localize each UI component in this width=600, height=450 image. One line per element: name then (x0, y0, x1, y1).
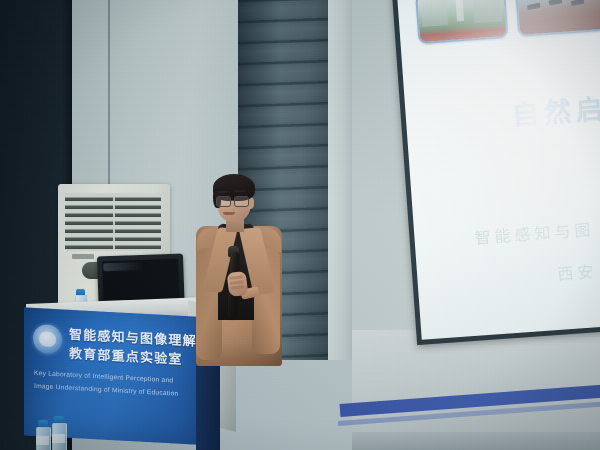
campus-building-right (473, 0, 502, 23)
water-bottle-floor-left (36, 420, 49, 450)
slide-subtitle-line-2: 西安 (557, 258, 599, 285)
lab-banner: 智能感知与图像理解 教育部重点实验室 Key Laboratory of Int… (24, 307, 196, 444)
banner-english-line-1: Key Laboratory of Intelligent Perception… (34, 370, 173, 385)
campus-statue (455, 0, 464, 21)
projection-screen-surface: 自然启 智能感知与图 西安 (397, 0, 600, 340)
presenter-hand (227, 271, 249, 297)
floor-strip (352, 432, 600, 450)
eyeglass-lens-right (234, 196, 249, 207)
bottle-label (52, 434, 65, 443)
screen-light-glow (397, 0, 600, 340)
eyeglasses-icon (216, 196, 250, 205)
bottle-label (36, 436, 49, 445)
air-conditioner-logo (72, 254, 94, 259)
grille-center-divider (113, 193, 115, 251)
graduation-ceremony-photo (515, 0, 600, 37)
lecture-hall-photo: 自然启 智能感知与图 西安 智能感知与图像理解 教育部重点实 (0, 0, 600, 450)
eyeglass-lens-left (216, 196, 231, 207)
air-conditioner-grille (65, 193, 161, 251)
water-bottle-floor-right (52, 416, 65, 450)
slide-subtitle-line-1: 智能感知与图 (474, 216, 595, 249)
campus-building-left (421, 0, 449, 27)
university-seal-emblem (33, 324, 62, 355)
slide-title: 自然启 (510, 87, 600, 133)
projection-screen: 自然启 智能感知与图 西安 (392, 0, 600, 345)
hand-finger (230, 285, 244, 290)
banner-english-line-2: Image Understanding of Ministry of Educa… (34, 383, 178, 398)
column-edge-highlight (328, 0, 354, 360)
bottle-cap (54, 416, 64, 423)
hand-finger (230, 280, 244, 285)
laptop-screen-reflection (103, 262, 143, 271)
graduation-cap-icon (549, 0, 563, 6)
presenter-mouth (223, 212, 235, 215)
slide-photo-row (415, 0, 600, 44)
graduation-cap-icon (526, 2, 540, 10)
hand-finger (229, 275, 243, 280)
campus-statue-photo (415, 0, 508, 44)
graduation-cap-icon (571, 0, 585, 6)
bottle-cap (38, 420, 48, 427)
